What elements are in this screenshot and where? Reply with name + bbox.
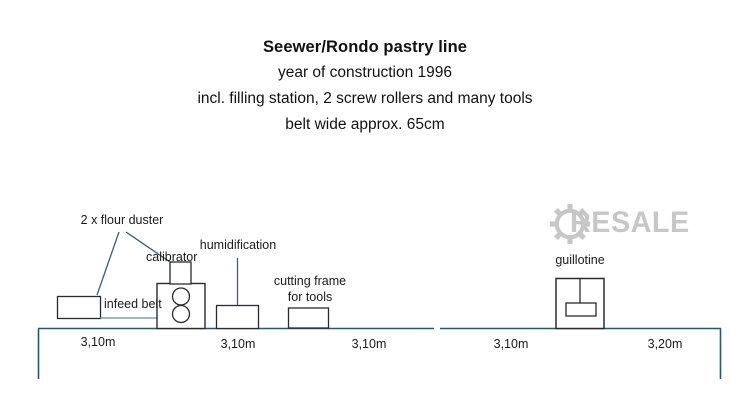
label-guillotine: guillotine: [555, 253, 604, 268]
label-cutting-frame-line2: for tools: [288, 290, 332, 305]
dimension-label-3: 3,10m: [352, 337, 387, 351]
dimension-label-2: 3,10m: [221, 337, 256, 351]
label-humidification: humidification: [200, 238, 276, 253]
label-flour-duster: 2 x flour duster: [81, 213, 164, 228]
flour-duster-leader-left: [97, 232, 119, 295]
dimension-label-5: 3,20m: [648, 337, 683, 351]
diagram-canvas: Seewer/Rondo pastry line year of constru…: [0, 0, 730, 410]
calibrator-chimney: [170, 262, 191, 284]
dimension-label-4: 3,10m: [494, 337, 529, 351]
label-infeed-belt: infeed belt: [104, 297, 162, 312]
infeed-belt-box: [58, 297, 101, 319]
label-calibrator: calibrator: [146, 250, 197, 265]
resale-watermark: RESALE: [548, 203, 696, 243]
humidification-box: [217, 306, 259, 329]
dimension-label-1: 3,10m: [81, 335, 116, 349]
calibrator-roller-lower: [173, 306, 190, 323]
guillotine-blade-bar: [566, 303, 596, 316]
label-cutting-frame-line1: cutting frame: [274, 274, 346, 289]
resale-watermark-text: RESALE: [570, 206, 690, 240]
calibrator-roller-upper: [173, 288, 190, 305]
cutting-frame-box: [289, 308, 329, 328]
